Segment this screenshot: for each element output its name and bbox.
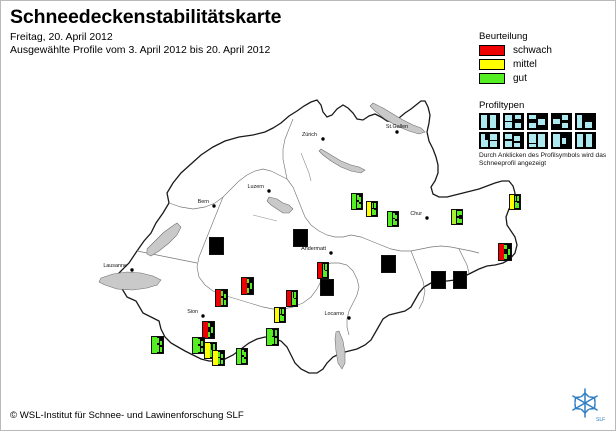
profile-marker[interactable] (266, 328, 279, 346)
copyright-footer: © WSL-Institut für Schnee- und Lawinenfo… (10, 410, 244, 421)
page-title: Schneedeckenstabilitätskarte (10, 5, 281, 29)
legend-item-gut: gut (479, 72, 613, 85)
city-dot-andermatt (329, 251, 332, 254)
profile-marker[interactable] (215, 289, 228, 307)
city-label-zurich: Zürich (302, 132, 317, 138)
profile-marker[interactable] (387, 211, 399, 227)
profile-types-row-1 (479, 113, 613, 130)
profile-type-icon-type-1[interactable] (479, 113, 500, 130)
profile-glyph-type-7 (392, 212, 398, 226)
profile-type-icon-type-10[interactable] (575, 132, 596, 149)
legend-swatch-gut (479, 73, 505, 84)
legend-swatch-schwach (479, 45, 505, 56)
profile-types-row-2 (479, 132, 613, 149)
profile-type-icon-type-9[interactable] (551, 132, 572, 149)
profile-marker[interactable] (209, 237, 224, 255)
date-line: Freitag, 20. April 2012 (10, 31, 281, 44)
profile-marker[interactable] (293, 229, 308, 247)
profile-marker-solid (293, 229, 308, 247)
city-dot-locarno (347, 316, 350, 319)
profile-type-icon-type-4[interactable] (551, 113, 572, 130)
city-dot-sion (201, 314, 204, 317)
city-label-sion: Sion (187, 309, 198, 315)
legend-label-schwach: schwach (513, 45, 552, 56)
city-dot-lausanne (130, 268, 133, 271)
profile-glyph-type-6 (279, 308, 285, 322)
profile-marker[interactable] (236, 348, 248, 365)
profile-glyph-type-7 (241, 349, 247, 364)
profile-range-line: Ausgewählte Profile vom 3. April 2012 bi… (10, 44, 281, 57)
profile-glyph-type-7 (356, 194, 362, 209)
profile-glyph-type-6 (322, 263, 328, 278)
legend-swatch-mittel (479, 59, 505, 70)
snow-stability-map-page: Zürich St.Gallen Luzern Bern Chur Anderm… (0, 0, 616, 431)
profile-glyph-type-3 (208, 322, 214, 338)
profile-type-icon-type-7[interactable] (503, 132, 524, 149)
profile-marker-solid (431, 271, 446, 289)
profile-glyph-type-7 (221, 290, 227, 306)
legend-rows: schwachmittelgut (479, 44, 613, 85)
snowflake-icon (573, 389, 597, 417)
profile-marker[interactable] (320, 279, 334, 296)
city-label-locarno: Locarno (325, 311, 344, 317)
legend-label-gut: gut (513, 73, 527, 84)
profile-types-title: Profiltypen (479, 100, 613, 111)
profile-marker[interactable] (151, 336, 164, 354)
profile-types-legend: Profiltypen Durch Anklicken des Profilsy… (479, 100, 613, 168)
legend-item-schwach: schwach (479, 44, 613, 57)
city-label-bern: Bern (198, 199, 209, 205)
profile-glyph-type-7 (157, 337, 163, 353)
profile-marker-solid (209, 237, 224, 255)
profile-type-icon-type-2[interactable] (503, 113, 524, 130)
profile-glyph-type-7 (218, 351, 224, 365)
city-dot-bern (212, 204, 215, 207)
profile-type-icon-type-6[interactable] (479, 132, 500, 149)
profile-marker[interactable] (431, 271, 446, 289)
legend-label-mittel: mittel (513, 59, 537, 70)
profile-glyph-type-6 (371, 202, 377, 216)
profile-marker[interactable] (317, 262, 329, 279)
profile-marker[interactable] (351, 193, 363, 210)
profile-marker[interactable] (453, 271, 467, 289)
profile-marker[interactable] (381, 255, 396, 273)
profile-glyph-type-3 (504, 244, 511, 260)
assessment-legend: Beurteilung schwachmittelgut (479, 31, 613, 86)
profile-type-icon-type-5[interactable] (575, 113, 596, 130)
profile-marker-solid (381, 255, 396, 273)
profile-marker[interactable] (274, 307, 286, 323)
profile-marker-solid (453, 271, 467, 289)
profile-type-icon-type-8[interactable] (527, 132, 548, 149)
profile-glyph-type-6 (514, 195, 520, 209)
profile-glyph-type-3 (247, 278, 253, 294)
city-label-lausanne: Lausanne (103, 263, 127, 269)
city-dot-luzern (267, 189, 270, 192)
city-label-stgallen: St.Gallen (386, 124, 408, 130)
profile-types-note: Durch Anklicken des Profilsymbols wird d… (479, 152, 615, 168)
slf-logo: SLF (565, 384, 605, 424)
legend-item-mittel: mittel (479, 58, 613, 71)
city-label-chur: Chur (410, 211, 422, 217)
profile-marker[interactable] (498, 243, 512, 261)
profile-glyph-type-6 (272, 329, 278, 345)
profile-marker[interactable] (509, 194, 521, 210)
legend-title: Beurteilung (479, 31, 613, 42)
city-dot-zurich (321, 137, 324, 140)
profile-marker[interactable] (241, 277, 254, 295)
page-header: Schneedeckenstabilitätskarte Freitag, 20… (10, 5, 281, 57)
profile-marker[interactable] (286, 290, 298, 307)
profile-marker[interactable] (212, 350, 225, 366)
profile-marker[interactable] (366, 201, 378, 217)
profile-glyph-type-6 (291, 291, 297, 306)
city-dot-stgallen (395, 130, 398, 133)
profile-marker-solid (320, 279, 334, 296)
city-label-luzern: Luzern (248, 184, 264, 190)
city-dot-chur (425, 216, 428, 219)
logo-label: SLF (596, 417, 605, 423)
profile-type-icon-type-3[interactable] (527, 113, 548, 130)
country-border (119, 100, 517, 373)
profile-marker[interactable] (451, 209, 463, 225)
profile-glyph-type-2 (456, 210, 462, 224)
